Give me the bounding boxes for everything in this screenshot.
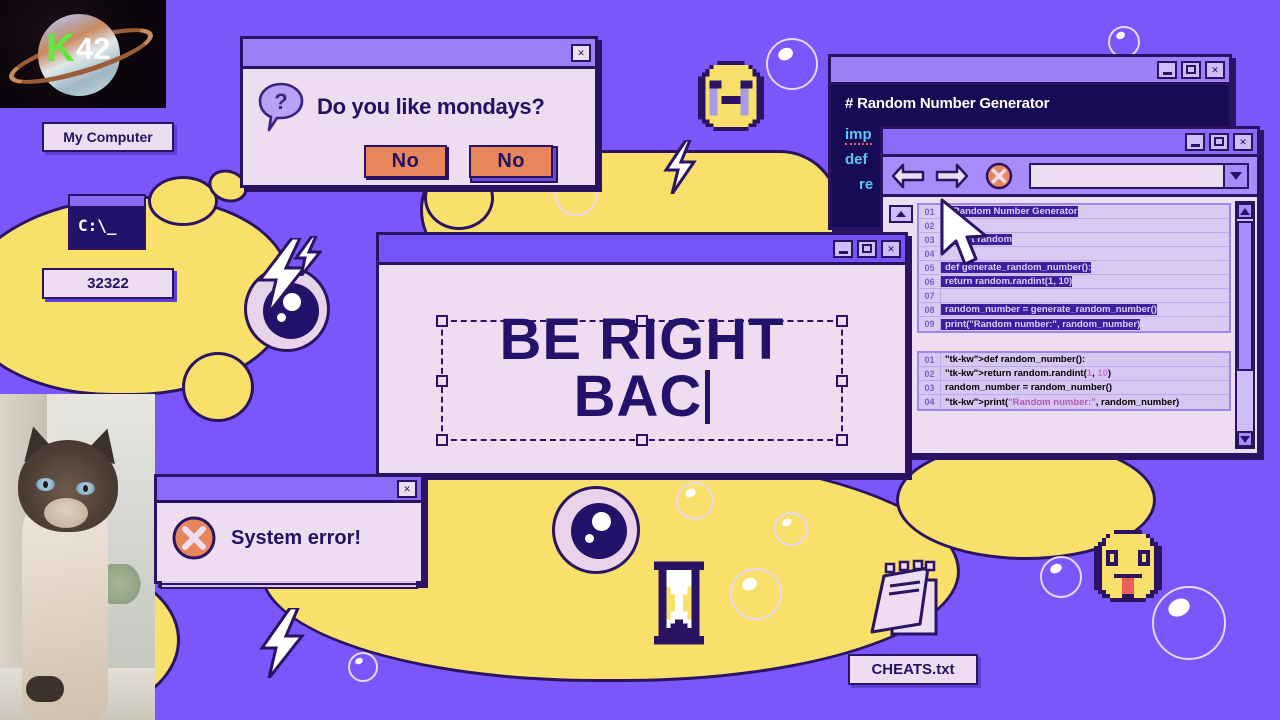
notepad-icon[interactable] xyxy=(862,558,946,640)
brb-line-2-wrap: BAC xyxy=(574,369,711,426)
code-row[interactable]: 07 xyxy=(919,289,1229,303)
cat-eye-right xyxy=(76,482,95,495)
hourglass-icon xyxy=(650,560,708,646)
address-dropdown-button[interactable] xyxy=(1223,163,1249,189)
minimize-button[interactable] xyxy=(1157,61,1177,79)
svg-text:?: ? xyxy=(274,89,287,114)
code-row[interactable]: 02 "tk-kw">return random.randint(1, 10) xyxy=(919,367,1229,381)
label-text: CHEATS.txt xyxy=(871,661,954,678)
close-button[interactable]: ✕ xyxy=(1233,133,1253,151)
scroll-up-button[interactable] xyxy=(1237,203,1253,219)
scrollbar-thumb[interactable] xyxy=(1237,221,1253,371)
dialog-message-row: ? Do you like mondays? xyxy=(257,81,579,133)
tongue-emoji-icon xyxy=(1090,530,1166,606)
brb-line-1: BE RIGHT xyxy=(499,312,784,369)
planet-thumbnail[interactable]: K 42 xyxy=(0,0,166,108)
desktop-canvas: K 42 My Computer C:\_ 32322 ✕ xyxy=(0,0,1280,720)
code-row[interactable]: 08random_number = generate_random_number… xyxy=(919,303,1229,317)
error-circle-x-icon xyxy=(171,515,217,561)
code-row[interactable]: 01"tk-kw">def random_number(): xyxy=(919,353,1229,367)
dialog-body: ? Do you like mondays? No No xyxy=(243,69,595,185)
brb-line-2: BAC xyxy=(574,364,703,429)
bubble-decoration xyxy=(730,568,782,620)
no-button-secondary[interactable]: No xyxy=(469,145,553,178)
chevron-down-icon xyxy=(1229,171,1243,181)
system-error-dialog[interactable]: ✕ System error! xyxy=(154,474,424,584)
mouse-cursor-icon xyxy=(938,198,996,270)
scroll-down-button[interactable] xyxy=(1237,431,1253,447)
close-button[interactable]: ✕ xyxy=(571,44,591,62)
code-token: imp xyxy=(845,126,872,145)
triangle-up-icon xyxy=(895,210,907,218)
cat-photo xyxy=(0,394,155,720)
terminal-prompt: C:\_ xyxy=(70,208,144,235)
terminal-icon[interactable]: C:\_ xyxy=(68,194,146,250)
brb-text-content[interactable]: BE RIGHT BAC xyxy=(379,265,905,473)
dialog-titlebar[interactable]: ✕ xyxy=(243,39,595,69)
code-row[interactable]: 03random_number = random_number() xyxy=(919,381,1229,395)
lightning-bolt-icon xyxy=(292,236,322,276)
maximize-button[interactable] xyxy=(1209,133,1229,151)
code-text: random_number = random_number() xyxy=(941,382,1112,393)
code-row[interactable]: 04"tk-kw">print("Random number:", random… xyxy=(919,395,1229,409)
line-number: 06 xyxy=(919,275,941,289)
cat-muzzle xyxy=(44,498,88,528)
label-my-computer[interactable]: My Computer xyxy=(42,122,174,152)
code-block-plain[interactable]: 01"tk-kw">def random_number():02 "tk-kw"… xyxy=(917,351,1231,411)
minimize-button[interactable] xyxy=(1185,133,1205,151)
browser-toolbar xyxy=(883,157,1257,197)
lightning-bolt-icon xyxy=(660,140,700,194)
dialog-buttons: No No xyxy=(257,145,579,178)
close-icon: ✕ xyxy=(578,47,585,58)
minimize-button[interactable] xyxy=(833,240,853,258)
brb-titlebar[interactable]: ✕ xyxy=(379,235,905,265)
k-logo: K xyxy=(46,28,75,68)
browser-window[interactable]: ✕ xyxy=(880,126,1260,456)
bubble-decoration xyxy=(676,482,714,520)
line-number: 01 xyxy=(919,353,941,367)
collapse-button[interactable] xyxy=(889,205,913,223)
error-titlebar[interactable]: ✕ xyxy=(157,477,421,503)
brb-body[interactable]: BE RIGHT BAC xyxy=(379,265,905,473)
label-text: 32322 xyxy=(87,275,129,292)
line-number: 09 xyxy=(919,317,941,331)
do-you-like-mondays-dialog[interactable]: ✕ ? Do you like mondays? No No xyxy=(240,36,598,188)
close-button[interactable]: ✕ xyxy=(881,240,901,258)
forward-arrow-icon[interactable] xyxy=(935,163,969,189)
label-text: My Computer xyxy=(63,129,152,145)
cat-paw xyxy=(26,676,64,702)
bubble-decoration xyxy=(766,38,818,90)
no-button-primary[interactable]: No xyxy=(364,145,448,178)
scrollbar-track[interactable] xyxy=(1237,373,1253,431)
code-row[interactable]: 06 return random.randint(1, 10) xyxy=(919,275,1229,289)
code-text: "tk-kw">return random.randint(1, 10) xyxy=(941,368,1111,379)
lightning-bolt-icon xyxy=(256,608,308,678)
planet-number: 42 xyxy=(76,33,110,64)
code-text: "tk-kw">def random_number(): xyxy=(941,354,1085,365)
line-number: 02 xyxy=(919,367,941,381)
code-row[interactable]: 09print("Random number:", random_number) xyxy=(919,317,1229,331)
code-text: return random.randint(1, 10) xyxy=(941,276,1072,287)
code-token: def xyxy=(845,151,868,168)
close-button[interactable]: ✕ xyxy=(397,480,417,498)
close-icon: ✕ xyxy=(1240,136,1247,147)
crying-emoji-icon xyxy=(694,60,768,136)
close-icon: ✕ xyxy=(1212,64,1219,75)
bubble-decoration xyxy=(1040,556,1082,598)
scroll-up-icon xyxy=(1240,208,1250,215)
maximize-button[interactable] xyxy=(857,240,877,258)
maximize-button[interactable] xyxy=(1181,61,1201,79)
question-speech-bubble-icon: ? xyxy=(257,81,305,133)
code-text: random_number = generate_random_number() xyxy=(941,304,1157,315)
label-cheats-file[interactable]: CHEATS.txt xyxy=(848,654,978,685)
terminal-titlebar xyxy=(70,196,144,208)
address-bar[interactable] xyxy=(1029,163,1249,189)
line-number: 07 xyxy=(919,289,941,303)
code-token: re xyxy=(859,176,873,193)
error-message: System error! xyxy=(231,527,361,550)
scroll-down-icon xyxy=(1240,436,1250,443)
close-icon: ✕ xyxy=(888,243,895,254)
code-text: print("Random number:", random_number) xyxy=(941,319,1140,330)
code-text: "tk-kw">print("Random number:", random_n… xyxy=(941,397,1179,408)
text-caret xyxy=(705,370,710,424)
cat-eye-left xyxy=(36,478,55,491)
vertical-scrollbar[interactable] xyxy=(1235,201,1255,449)
code-editor-titlebar[interactable]: ✕ xyxy=(831,57,1229,85)
back-arrow-icon[interactable] xyxy=(891,163,925,189)
be-right-back-text-window[interactable]: ✕ BE RIGHT BAC xyxy=(376,232,908,476)
line-number: 03 xyxy=(919,381,941,395)
bubble-decoration xyxy=(774,512,808,546)
close-button[interactable]: ✕ xyxy=(1205,61,1225,79)
window-stack-shadow xyxy=(157,581,421,597)
bubble-decoration xyxy=(348,652,378,682)
browser-titlebar[interactable]: ✕ xyxy=(883,129,1257,157)
close-icon: ✕ xyxy=(404,483,411,494)
code-comment-line: # Random Number Generator xyxy=(845,95,1215,112)
label-counter[interactable]: 32322 xyxy=(42,268,174,299)
line-number: 08 xyxy=(919,303,941,317)
dialog-question-text: Do you like mondays? xyxy=(317,94,545,120)
error-body: System error! xyxy=(157,503,421,573)
line-number: 04 xyxy=(919,395,941,409)
stop-icon[interactable] xyxy=(985,162,1013,190)
address-input[interactable] xyxy=(1029,163,1223,189)
